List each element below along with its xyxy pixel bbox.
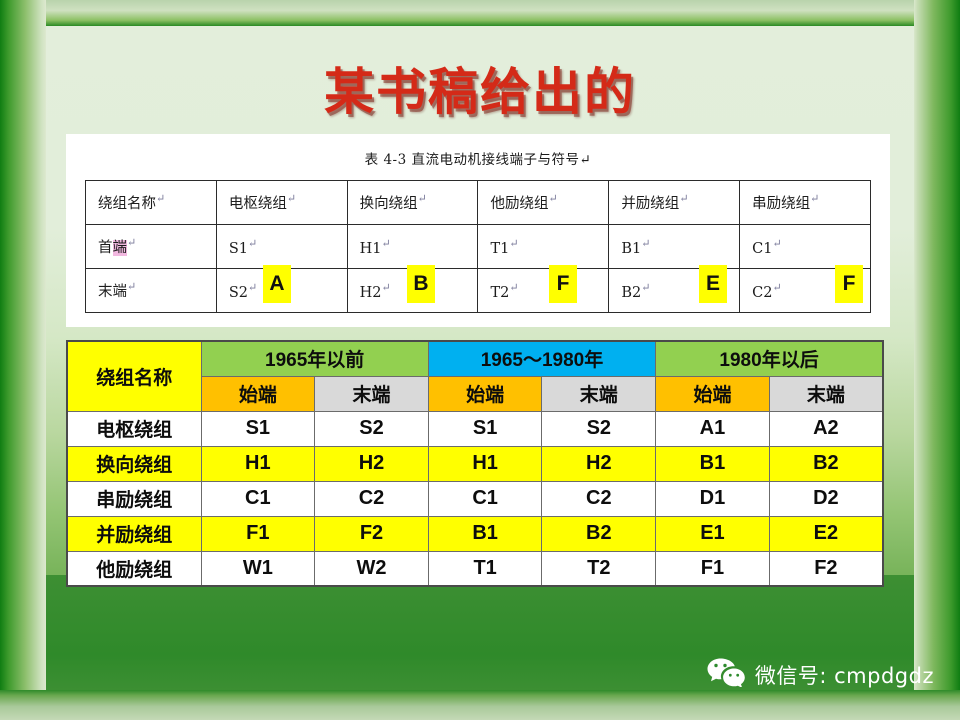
table1-cell-start-1: H1↵ (347, 225, 478, 269)
table2-cell-3-0: F1 (201, 516, 315, 551)
presentation-slide: 某书稿给出的 表 4-3 直流电动机接线端子与符号↵ 绕组名称↵ 电枢绕组↵ 换… (0, 0, 960, 720)
table1-cell-end-text-0: S2 (229, 284, 248, 300)
table1-header-text-1: 电枢绕组 (229, 196, 287, 212)
wechat-id-label: 微信号: cmpdgdz (755, 660, 934, 690)
table2-cell-4-5: F2 (769, 551, 883, 586)
table2-era-header-2: 1980年以后 (656, 341, 883, 376)
table2-row-name-3: 并励绕组 (67, 516, 201, 551)
annotation-chip-e: E (699, 265, 727, 303)
table2-subheader-3: 末端 (542, 376, 656, 411)
pilcrow-icon: ↵ (248, 237, 257, 250)
table1-cell-start-3: B1↵ (609, 225, 740, 269)
pilcrow-icon: ↵ (509, 237, 518, 250)
table2-cell-0-3: S2 (542, 411, 656, 446)
table-row: 电枢绕组 S1 S2 S1 S2 A1 A2 (67, 411, 883, 446)
table2-cell-2-3: C2 (542, 481, 656, 516)
table2-era-header-0: 1965年以前 (201, 341, 428, 376)
table1-cell-start-text-1: H1 (360, 240, 382, 256)
table1-header-text-4: 并励绕组 (621, 196, 679, 212)
table2-cell-3-5: E2 (769, 516, 883, 551)
table2-cell-1-3: H2 (542, 446, 656, 481)
table1-cell-start-text-4: C1 (752, 240, 772, 256)
annotation-chip-b: B (407, 265, 435, 303)
table1-row-label-start-b: 端 (113, 240, 128, 256)
table1-row-label-start: 首端↵ (86, 225, 217, 269)
table1: 绕组名称↵ 电枢绕组↵ 换向绕组↵ 他励绕组↵ 并励绕组↵ 串励绕组↵ 首端↵ … (85, 180, 871, 313)
table2-row-name-4: 他励绕组 (67, 551, 201, 586)
table2-era-header-row: 绕组名称 1965年以前 1965～1980年 1980年以后 (67, 341, 883, 376)
table2-subheader-2: 始端 (428, 376, 542, 411)
wechat-watermark: 微信号: cmpdgdz (706, 657, 934, 692)
table1-cell-end-text-2: T2 (490, 284, 509, 300)
frame-border-bottom (0, 690, 960, 720)
table1-header-cell-1: 电枢绕组↵ (216, 181, 347, 225)
table2-cell-3-2: B1 (428, 516, 542, 551)
pilcrow-icon: ↵ (156, 192, 165, 205)
table1-header-text-0: 绕组名称 (98, 196, 156, 212)
pilcrow-icon: ↵ (641, 281, 650, 294)
table2-cell-1-2: H1 (428, 446, 542, 481)
frame-border-top (0, 0, 960, 26)
table2-cell-4-1: W2 (315, 551, 429, 586)
pilcrow-icon: ↵ (127, 236, 136, 249)
table2-cell-3-4: E1 (656, 516, 770, 551)
pilcrow-icon: ↵ (418, 192, 427, 205)
table-row: 他励绕组 W1 W2 T1 T2 F1 F2 (67, 551, 883, 586)
pilcrow-icon: ↵ (580, 152, 592, 168)
table2-cell-4-2: T1 (428, 551, 542, 586)
table1-cell-start-2: T1↵ (478, 225, 609, 269)
table1-caption-text: 表 4-3 直流电动机接线端子与符号 (365, 152, 580, 168)
table1-cell-end-text-4: C2 (752, 284, 772, 300)
table1-cell-start-4: C1↵ (740, 225, 871, 269)
table1-row-end: 末端↵ S2↵ H2↵ T2↵ B2↵ C2↵ (86, 269, 871, 313)
pilcrow-icon: ↵ (382, 237, 391, 250)
table2-row-name-2: 串励绕组 (67, 481, 201, 516)
table2-subheader-1: 末端 (315, 376, 429, 411)
table2-cell-1-5: B2 (769, 446, 883, 481)
table1-row-label-end-b: 端 (113, 284, 128, 300)
pilcrow-icon: ↵ (548, 192, 557, 205)
table2-cell-0-4: A1 (656, 411, 770, 446)
table1-header-row: 绕组名称↵ 电枢绕组↵ 换向绕组↵ 他励绕组↵ 并励绕组↵ 串励绕组↵ (86, 181, 871, 225)
pilcrow-icon: ↵ (679, 192, 688, 205)
pilcrow-icon: ↵ (287, 192, 296, 205)
table2-cell-0-0: S1 (201, 411, 315, 446)
table1-row-start: 首端↵ S1↵ H1↵ T1↵ B1↵ C1↵ (86, 225, 871, 269)
table2-cell-1-1: H2 (315, 446, 429, 481)
pilcrow-icon: ↵ (641, 237, 650, 250)
table2-cell-2-1: C2 (315, 481, 429, 516)
annotation-chip-a: A (263, 265, 291, 303)
standards-table-wrapper: 绕组名称 1965年以前 1965～1980年 1980年以后 始端 末端 始端… (66, 340, 884, 587)
table2-subheader-0: 始端 (201, 376, 315, 411)
table1-cell-end-text-1: H2 (360, 284, 382, 300)
table2-cell-0-1: S2 (315, 411, 429, 446)
table2-cell-4-0: W1 (201, 551, 315, 586)
table-row: 串励绕组 C1 C2 C1 C2 D1 D2 (67, 481, 883, 516)
table2-cell-3-3: B2 (542, 516, 656, 551)
table2-cell-0-2: S1 (428, 411, 542, 446)
table2-cell-1-0: H1 (201, 446, 315, 481)
table1-cell-start-text-0: S1 (229, 240, 248, 256)
table2-subheader-4: 始端 (656, 376, 770, 411)
table1-caption: 表 4-3 直流电动机接线端子与符号↵ (66, 134, 890, 168)
pilcrow-icon: ↵ (248, 281, 257, 294)
table2-cell-3-1: F2 (315, 516, 429, 551)
table1-header-cell-4: 并励绕组↵ (609, 181, 740, 225)
table1-cell-end-2: T2↵ (478, 269, 609, 313)
table1-cell-end-text-3: B2 (621, 284, 641, 300)
pilcrow-icon: ↵ (509, 281, 518, 294)
table2: 绕组名称 1965年以前 1965～1980年 1980年以后 始端 末端 始端… (66, 340, 884, 587)
table1-cell-start-0: S1↵ (216, 225, 347, 269)
table2-row-name-0: 电枢绕组 (67, 411, 201, 446)
table1-row-label-end: 末端↵ (86, 269, 217, 313)
pilcrow-icon: ↵ (772, 237, 781, 250)
table1-cell-start-text-3: B1 (621, 240, 641, 256)
pilcrow-icon: ↵ (127, 280, 136, 293)
table2-cell-0-5: A2 (769, 411, 883, 446)
table2-cell-1-4: B1 (656, 446, 770, 481)
table1-header-cell-3: 他励绕组↵ (478, 181, 609, 225)
table1-header-cell-2: 换向绕组↵ (347, 181, 478, 225)
slide-title: 某书稿给出的 (0, 52, 960, 124)
table1-header-text-2: 换向绕组 (360, 196, 418, 212)
pilcrow-icon: ↵ (772, 281, 781, 294)
pilcrow-icon: ↵ (382, 281, 391, 294)
table2-row-name-1: 换向绕组 (67, 446, 201, 481)
table2-cell-2-4: D1 (656, 481, 770, 516)
table1-header-cell-0: 绕组名称↵ (86, 181, 217, 225)
annotation-chip-f2: F (835, 265, 863, 303)
table2-cell-4-4: F1 (656, 551, 770, 586)
table2-subheader-5: 末端 (769, 376, 883, 411)
table1-cell-start-text-2: T1 (490, 240, 509, 256)
pilcrow-icon: ↵ (810, 192, 819, 205)
table2-corner-label: 绕组名称 (67, 341, 201, 411)
wechat-icon (706, 657, 746, 692)
table-row: 换向绕组 H1 H2 H1 H2 B1 B2 (67, 446, 883, 481)
table2-cell-2-5: D2 (769, 481, 883, 516)
table1-header-cell-5: 串励绕组↵ (740, 181, 871, 225)
table2-cell-4-3: T2 (542, 551, 656, 586)
table1-row-label-start-a: 首 (98, 240, 113, 256)
annotation-chip-f1: F (549, 265, 577, 303)
table-row: 并励绕组 F1 F2 B1 B2 E1 E2 (67, 516, 883, 551)
table2-era-header-1: 1965～1980年 (428, 341, 655, 376)
book-excerpt-panel: 表 4-3 直流电动机接线端子与符号↵ 绕组名称↵ 电枢绕组↵ 换向绕组↵ 他励… (66, 134, 890, 327)
table2-cell-2-2: C1 (428, 481, 542, 516)
table1-header-text-3: 他励绕组 (490, 196, 548, 212)
table1-row-label-end-a: 末 (98, 284, 113, 300)
table2-cell-2-0: C1 (201, 481, 315, 516)
table1-header-text-5: 串励绕组 (752, 196, 810, 212)
